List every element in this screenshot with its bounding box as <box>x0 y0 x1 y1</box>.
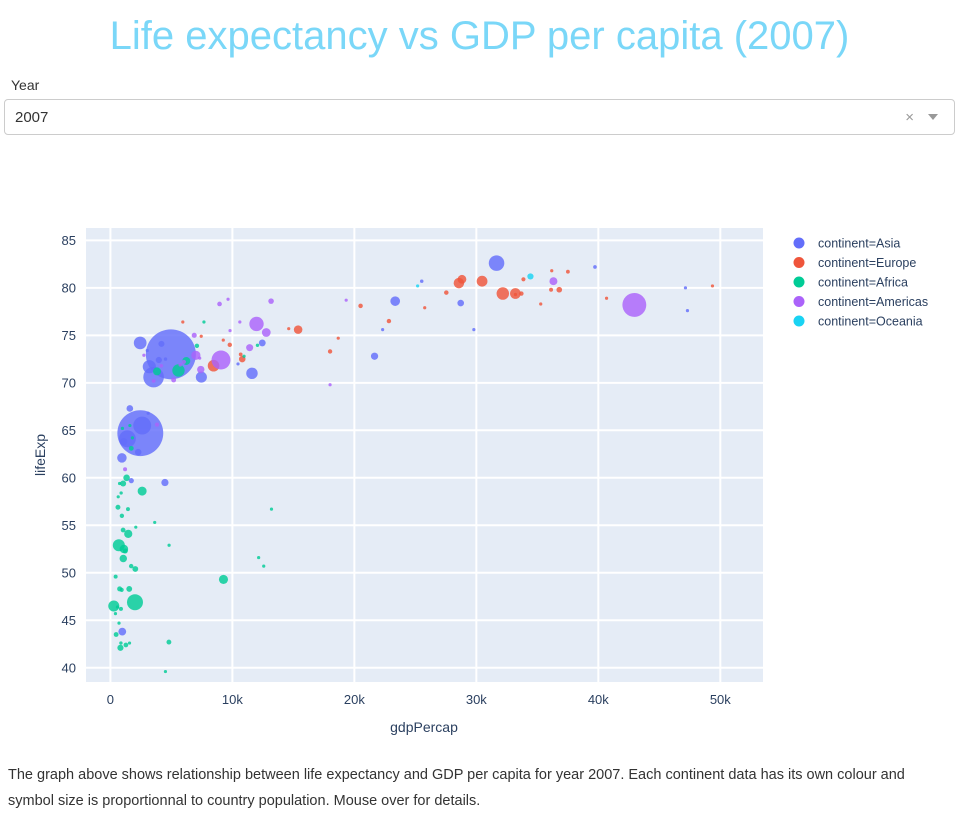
bubble[interactable]: Hungary <box>328 349 332 353</box>
bubble[interactable]: Taiwan <box>457 300 464 307</box>
chevron-down-icon[interactable] <box>922 114 954 120</box>
bubble[interactable]: Benin <box>126 507 130 511</box>
bubble[interactable]: Switzerland <box>566 270 570 274</box>
bubble[interactable]: Serbia <box>228 343 232 347</box>
bubble[interactable]: Cuba <box>217 302 222 307</box>
bubble[interactable]: Germany <box>497 287 509 299</box>
bubble[interactable]: El Salvador <box>178 363 182 367</box>
x-tick-label: 40k <box>588 692 609 707</box>
bubble[interactable]: Mexico <box>249 317 263 331</box>
bubble[interactable]: Dominican Republic <box>182 360 186 364</box>
bubble[interactable]: Rwanda <box>119 607 123 611</box>
bubble[interactable]: Angola <box>166 640 171 645</box>
bubble[interactable]: Gambia <box>118 482 121 485</box>
x-tick-label: 20k <box>344 692 365 707</box>
bubble[interactable]: Afghanistan <box>118 628 126 636</box>
legend-marker-icon <box>794 296 805 307</box>
bubble[interactable]: Guatemala <box>171 378 176 383</box>
bubble[interactable]: Liberia <box>114 612 117 615</box>
bubble[interactable]: Croatia <box>287 327 290 330</box>
bubble[interactable]: Egypt <box>172 364 184 376</box>
year-control-block: Year 2007 × <box>0 61 959 135</box>
bubble[interactable]: Ireland <box>605 297 608 300</box>
bubble[interactable]: Argentina <box>262 328 271 337</box>
legend[interactable]: continent=Asiacontinent=Europecontinent=… <box>794 237 929 329</box>
bubble[interactable]: Peru <box>197 366 204 373</box>
bubble[interactable]: Trinidad and Tobago <box>328 383 331 386</box>
bubble[interactable]: Hong Kong, China <box>593 265 597 269</box>
legend-label: continent=Oceania <box>818 315 923 329</box>
bubble[interactable]: Equatorial Guinea <box>257 556 260 559</box>
legend-item-europe[interactable]: continent=Europe <box>794 256 917 270</box>
bubble[interactable]: Slovak Republic <box>337 337 340 340</box>
legend-label: continent=Asia <box>818 237 900 251</box>
x-tick-label: 50k <box>710 692 731 707</box>
bubble[interactable]: Syria <box>158 341 164 347</box>
bubble[interactable]: Japan <box>489 255 505 271</box>
y-tick-label: 70 <box>62 375 76 390</box>
figure-caption: The graph above shows relationship betwe… <box>0 762 959 814</box>
bubble[interactable]: Montenegro <box>222 338 225 341</box>
bubble[interactable]: Iceland <box>550 269 553 272</box>
bubble[interactable]: Malaysia <box>259 339 266 346</box>
bubble[interactable]: Niger <box>115 505 120 510</box>
bubble[interactable]: Zimbabwe <box>114 632 119 637</box>
bubble[interactable]: France <box>477 276 488 287</box>
bubble[interactable]: Iraq <box>161 479 168 486</box>
x-tick-label: 30k <box>466 692 487 707</box>
bubble[interactable]: Libya <box>256 344 259 347</box>
bubble[interactable]: Venezuela <box>246 344 253 351</box>
bubble[interactable]: Belgium <box>519 291 523 295</box>
bubble[interactable]: South Africa <box>219 575 228 584</box>
bubble[interactable]: Poland <box>294 325 303 334</box>
bubble[interactable]: Bulgaria <box>239 352 243 356</box>
bubble[interactable]: Sweden <box>521 277 525 281</box>
bubble[interactable]: Botswana <box>262 565 265 568</box>
bubble[interactable]: Czech Republic <box>387 319 391 323</box>
bubble[interactable]: West Bank and Gaza <box>146 349 149 352</box>
bubble[interactable]: Greece <box>444 290 449 295</box>
bubble[interactable]: New Zealand <box>416 284 419 287</box>
bubble[interactable]: Finland <box>514 293 517 296</box>
bubble[interactable]: Guinea <box>120 514 124 518</box>
bubble[interactable]: Morocco <box>153 367 161 375</box>
y-tick-label: 55 <box>62 518 76 533</box>
y-axis-ticks: 40455055606570758085 <box>62 233 76 675</box>
bubble[interactable]: Vietnam <box>134 337 147 350</box>
bubble[interactable]: Denmark <box>539 302 542 305</box>
x-tick-label: 0 <box>107 692 114 707</box>
bubble[interactable]: Albania <box>181 320 184 323</box>
x-axis-label: gdpPercap <box>390 719 458 735</box>
bubble[interactable]: United States <box>622 293 646 317</box>
bubble[interactable]: Chile <box>268 298 274 304</box>
bubble[interactable]: Puerto Rico <box>345 299 348 302</box>
bubble[interactable]: Bolivia <box>155 423 159 427</box>
legend-label: continent=Europe <box>818 256 916 270</box>
bubble[interactable]: Zambia <box>124 643 129 648</box>
bubble[interactable]: Mauritius <box>242 355 245 358</box>
bubble[interactable]: Central African Republic <box>117 622 120 625</box>
bubble[interactable]: Kenya <box>124 530 132 538</box>
bubble[interactable]: Haiti <box>123 467 127 471</box>
bubble[interactable]: Brazil <box>211 351 230 370</box>
bubble[interactable]: Sudan <box>138 487 147 496</box>
bubble[interactable]: Mozambique <box>117 645 123 651</box>
clear-icon[interactable]: × <box>897 110 922 125</box>
year-dropdown-value: 2007 <box>5 109 897 126</box>
bubble[interactable]: Canada <box>549 277 557 285</box>
bubble[interactable]: Ecuador <box>192 333 197 338</box>
bubble[interactable]: Spain <box>458 275 467 284</box>
bubble[interactable]: Myanmar <box>117 453 127 463</box>
bubble[interactable]: Uganda <box>120 555 127 562</box>
y-tick-label: 50 <box>62 565 76 580</box>
figure-svg: ChinaIndiaIndonesiaPakistanBangladeshJap… <box>0 160 959 750</box>
y-tick-label: 75 <box>62 328 76 343</box>
bubble[interactable]: Netherlands <box>556 287 562 293</box>
bubble[interactable]: Iran <box>246 368 257 379</box>
bubble[interactable]: Jamaica <box>198 357 201 360</box>
bubble[interactable]: Mongolia <box>147 412 150 415</box>
bubble[interactable]: Costa Rica <box>226 298 229 301</box>
bubble[interactable]: Sri Lanka <box>156 357 162 363</box>
bubble[interactable]: Nepal <box>120 438 127 445</box>
y-tick-label: 80 <box>62 280 76 295</box>
legend-marker-icon <box>794 277 805 288</box>
legend-item-oceania[interactable]: continent=Oceania <box>794 315 923 329</box>
bubble[interactable]: Kuwait <box>686 309 689 312</box>
y-tick-label: 60 <box>62 470 76 485</box>
bubble[interactable]: Paraguay <box>160 364 164 368</box>
legend-marker-icon <box>794 316 805 327</box>
bubble[interactable]: Ghana <box>123 475 130 482</box>
bubble[interactable]: Eritrea <box>117 495 120 498</box>
bubble[interactable]: Burundi <box>114 575 118 579</box>
bubble[interactable]: Nigeria <box>127 594 143 610</box>
bubble[interactable]: Korea, Dem. Rep. <box>127 405 134 412</box>
bubble[interactable]: Namibia <box>167 544 170 547</box>
bubble[interactable]: Australia <box>527 273 533 279</box>
year-dropdown[interactable]: 2007 × <box>4 99 955 135</box>
bubble[interactable]: Chad <box>129 564 133 568</box>
scatter-figure: ChinaIndiaIndonesiaPakistanBangladeshJap… <box>0 160 959 750</box>
page-title: Life expectancy vs GDP per capita (2007) <box>0 0 959 61</box>
legend-item-africa[interactable]: continent=Africa <box>794 276 909 290</box>
plot-background <box>86 228 763 682</box>
bubble[interactable]: Sao Tome and Principe <box>128 424 131 427</box>
x-tick-label: 10k <box>222 692 243 707</box>
y-tick-label: 85 <box>62 233 76 248</box>
y-axis-label: lifeExp <box>32 434 48 476</box>
bubble[interactable]: Portugal <box>358 304 362 308</box>
bubble[interactable]: Yemen, Rep. <box>135 449 141 455</box>
bubble[interactable]: Lesotho <box>128 641 131 644</box>
bubble[interactable]: Oman <box>381 328 384 331</box>
bubble[interactable]: Panama <box>228 329 231 332</box>
bubble[interactable]: Burkina Faso <box>123 548 128 553</box>
bubble[interactable]: Norway <box>711 284 714 287</box>
bubble[interactable]: Congo, Rep. <box>153 521 156 524</box>
bubble[interactable]: Thailand <box>196 372 207 383</box>
bubble[interactable]: Sierra Leone <box>119 641 122 644</box>
bubble[interactable]: Cameroon <box>132 566 138 572</box>
bubble[interactable]: Guinea-Bissau <box>116 605 119 608</box>
bubble[interactable]: Bosnia and Herzegovina <box>200 335 203 338</box>
legend-marker-icon <box>794 257 805 268</box>
bubble[interactable]: Korea, Rep. <box>390 296 400 306</box>
bubble[interactable]: Djibouti <box>134 526 137 529</box>
legend-label: continent=Africa <box>818 276 908 290</box>
bubble[interactable]: Israel <box>420 279 423 282</box>
bubble[interactable]: Slovenia <box>423 306 426 309</box>
bubble[interactable]: Bahrain <box>472 328 475 331</box>
bubble[interactable]: Tunisia <box>195 344 199 348</box>
legend-label: continent=Americas <box>818 295 928 309</box>
bubble[interactable]: Lebanon <box>236 362 239 365</box>
bubble[interactable]: Saudi Arabia <box>371 353 378 360</box>
bubble[interactable]: Mali <box>121 528 126 533</box>
bubble[interactable]: Togo <box>120 491 123 494</box>
bubble[interactable]: Uruguay <box>238 320 241 323</box>
bubble[interactable]: Honduras <box>152 379 156 383</box>
legend-item-asia[interactable]: continent=Asia <box>794 237 901 251</box>
legend-marker-icon <box>794 238 805 249</box>
y-tick-label: 45 <box>62 613 76 628</box>
x-axis-ticks: 010k20k30k40k50k <box>107 692 732 707</box>
bubble[interactable]: Somalia <box>120 588 124 592</box>
bubble[interactable]: Swaziland <box>164 670 167 673</box>
bubble[interactable]: Austria <box>549 288 553 292</box>
bubble[interactable]: Mauritania <box>131 436 134 439</box>
y-tick-label: 65 <box>62 423 76 438</box>
bubble[interactable]: Reunion <box>202 320 205 323</box>
bubble[interactable]: Comoros <box>121 427 124 430</box>
year-label: Year <box>4 77 955 93</box>
bubble[interactable]: Jordan <box>164 357 167 360</box>
bubble[interactable]: Gabon <box>270 508 273 511</box>
y-tick-label: 40 <box>62 660 76 675</box>
bubble[interactable]: Senegal <box>129 446 134 451</box>
bubble[interactable]: Nicaragua <box>142 354 145 357</box>
bubble[interactable]: Cote d'Ivoire <box>126 586 132 592</box>
bubble[interactable]: Singapore <box>684 286 687 289</box>
bubble[interactable]: Pakistan <box>133 417 151 435</box>
legend-item-americas[interactable]: continent=Americas <box>794 295 929 309</box>
